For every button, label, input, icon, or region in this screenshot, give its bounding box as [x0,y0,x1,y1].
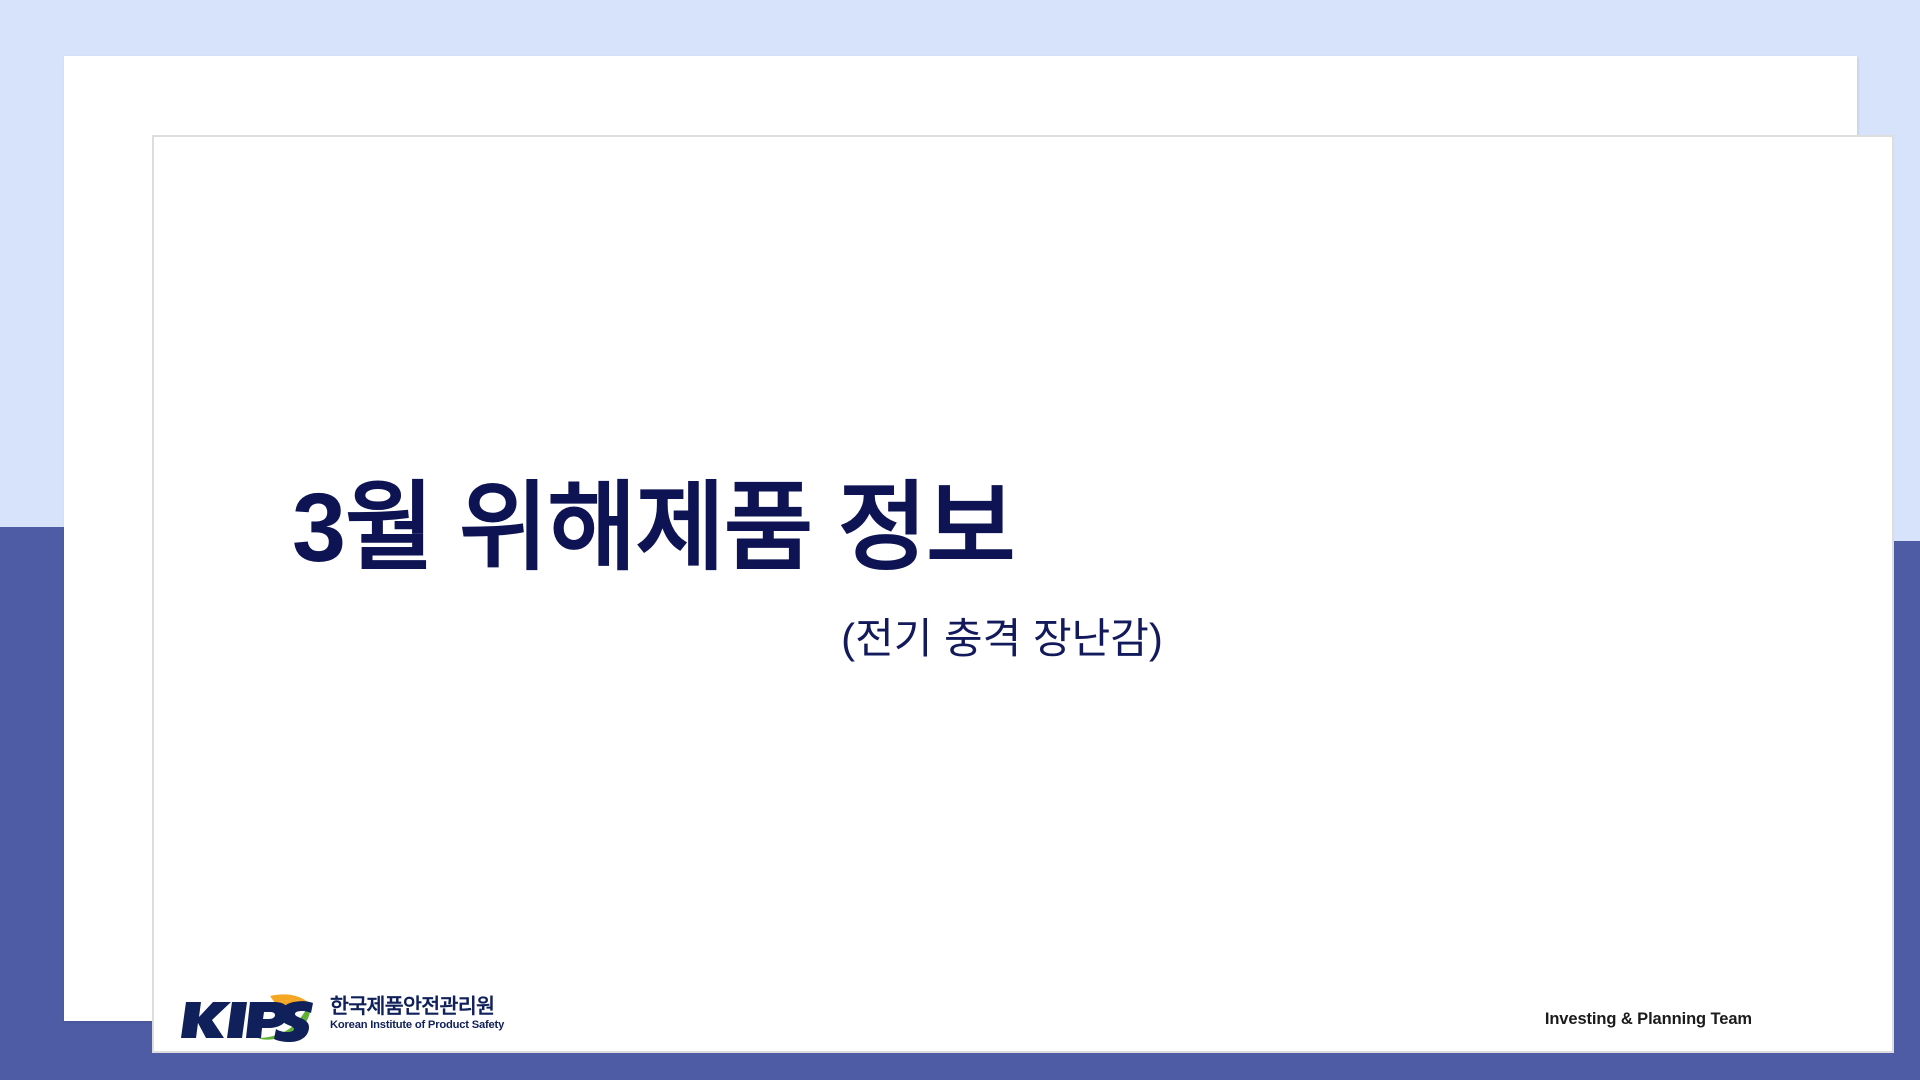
title-block: 3월 위해제품 정보 (전기 충격 장난감) [292,474,1712,666]
page-title: 3월 위해제품 정보 [292,474,1712,583]
kips-logo-wordmark: 한국제품안전관리원 Korean Institute of Product Sa… [328,996,504,1034]
footer-team-label: Investing & Planning Team [1545,1010,1752,1029]
kips-logo: 한국제품안전관리원 Korean Institute of Product Sa… [174,986,504,1044]
kips-org-name-kr: 한국제품안전관리원 [330,996,504,1019]
slide-card: 3월 위해제품 정보 (전기 충격 장난감) [64,56,1857,1021]
kips-org-name-en: Korean Institute of Product Safety [330,1019,504,1032]
page-subtitle: (전기 충격 장난감) [292,583,1712,666]
slide-root: 3월 위해제품 정보 (전기 충격 장난감) [0,0,1920,1080]
kips-logo-icon [174,986,324,1044]
